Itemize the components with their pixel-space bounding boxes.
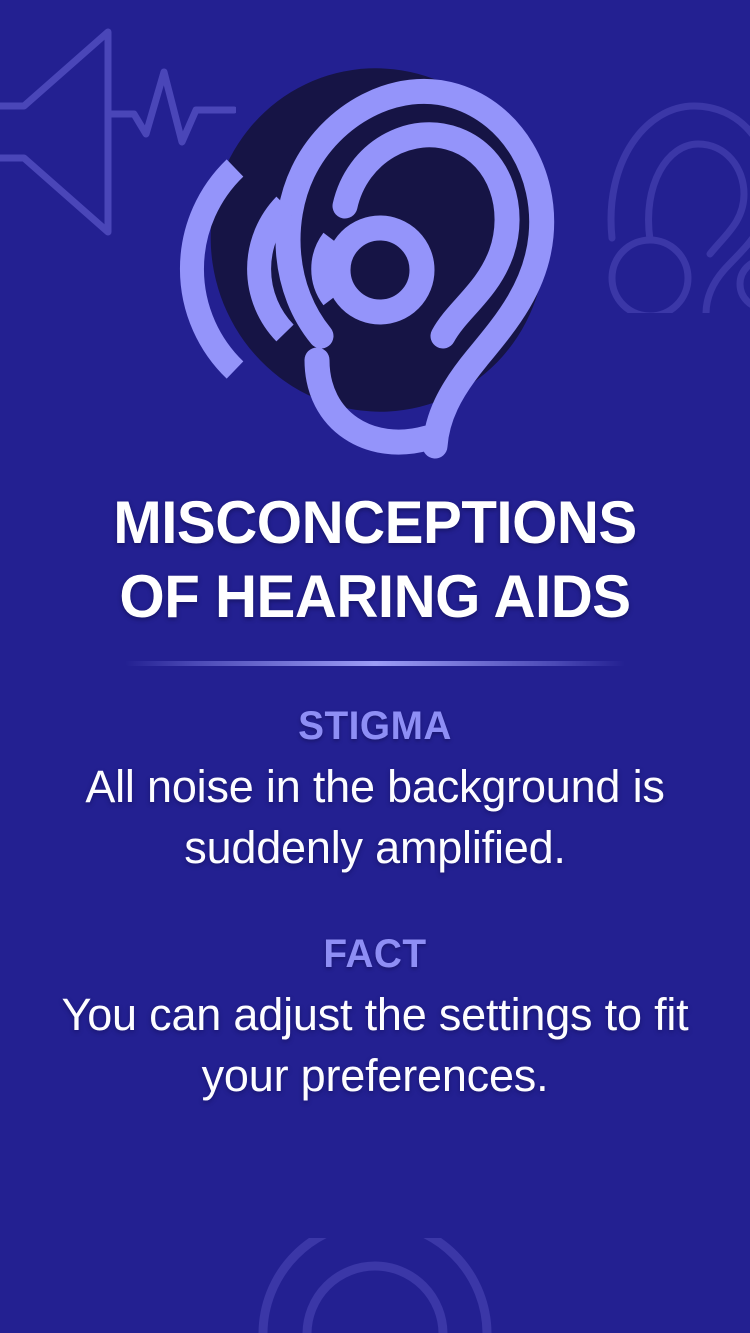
section-label-fact: FACT: [11, 928, 739, 980]
section-stigma: STIGMA All noise in the background is su…: [0, 700, 750, 878]
title-divider: [125, 661, 625, 666]
section-body-fact: You can adjust the settings to fit your …: [0, 980, 750, 1106]
section-label-stigma: STIGMA: [11, 700, 739, 752]
ear-hearing-icon: [175, 40, 575, 460]
poster-canvas: MISCONCEPTIONS OF HEARING AIDS STIGMA Al…: [0, 0, 750, 1333]
title-line-2: OF HEARING AIDS: [11, 560, 739, 634]
section-body-stigma: All noise in the background is suddenly …: [0, 752, 750, 878]
section-fact: FACT You can adjust the settings to fit …: [0, 928, 750, 1106]
page-title: MISCONCEPTIONS OF HEARING AIDS: [0, 486, 750, 634]
sound-arcs-icon: [255, 1238, 495, 1333]
title-line-1: MISCONCEPTIONS: [11, 486, 739, 560]
content-sections: STIGMA All noise in the background is su…: [0, 700, 750, 1106]
hero-icon: [0, 40, 750, 460]
